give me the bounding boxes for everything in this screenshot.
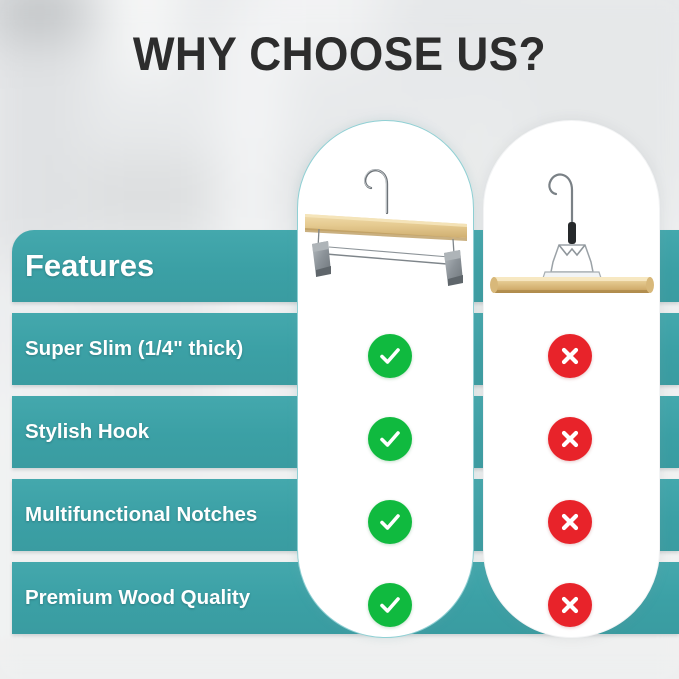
- check-circle-icon: [368, 500, 412, 544]
- feature-label-stylish-hook: Stylish Hook: [25, 420, 149, 444]
- feature-label-super-slim: Super Slim (1/4" thick): [25, 337, 243, 361]
- features-header-label: Features: [25, 248, 154, 284]
- cross-circle-icon: [548, 583, 592, 627]
- check-circle-icon: [368, 334, 412, 378]
- cross-circle-icon: [548, 334, 592, 378]
- cross-circle-icon: [548, 417, 592, 461]
- check-circle-icon: [368, 583, 412, 627]
- feature-label-multifunctional-notches: Multifunctional Notches: [25, 503, 257, 527]
- feature-label-premium-wood-quality: Premium Wood Quality: [25, 586, 250, 610]
- competitor-product-column: [483, 120, 660, 638]
- cross-circle-icon: [548, 500, 592, 544]
- page-title: WHY CHOOSE US?: [20, 28, 658, 80]
- check-circle-icon: [368, 417, 412, 461]
- our-product-column: [297, 120, 474, 638]
